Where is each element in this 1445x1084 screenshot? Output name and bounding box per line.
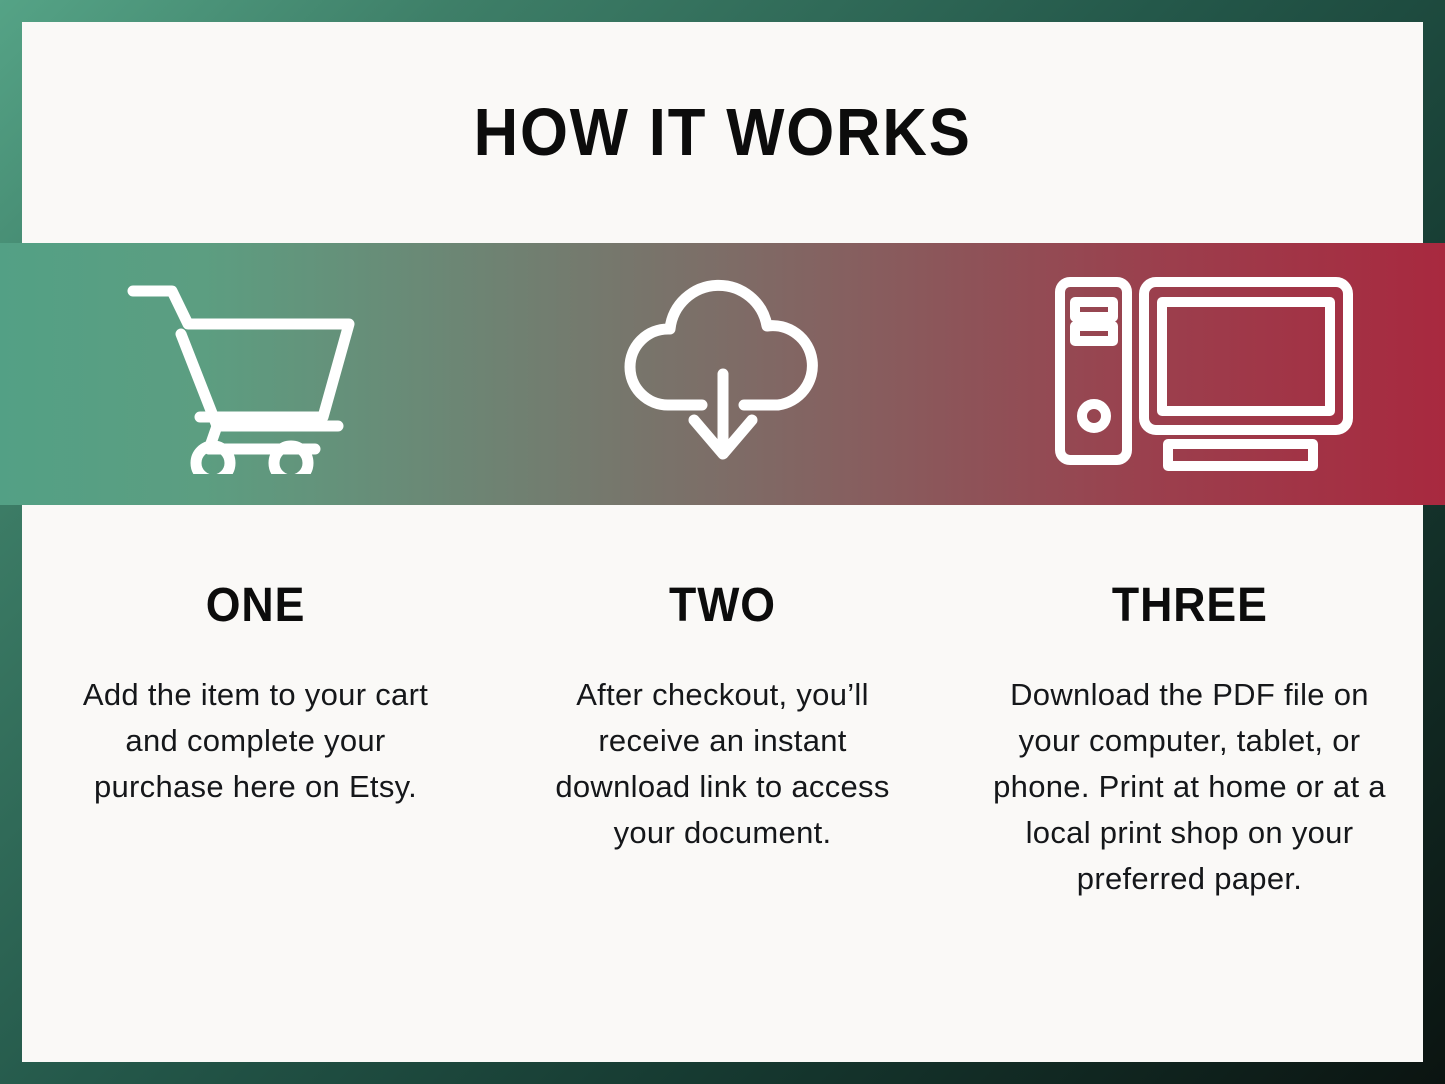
step-three-body: Download the PDF file on your computer, … xyxy=(991,672,1389,901)
steps-columns: ONE Add the item to your cart and comple… xyxy=(22,582,1423,901)
icon-slot-two xyxy=(482,274,964,474)
page-title-block: HOW IT WORKS xyxy=(22,22,1423,243)
cloud-download-icon xyxy=(618,274,828,474)
step-one-body: Add the item to your cart and complete y… xyxy=(58,672,453,810)
icon-slot-one xyxy=(0,274,482,474)
shopping-cart-icon xyxy=(125,274,357,474)
step-two-heading: TWO xyxy=(669,582,776,630)
poster-card: HOW IT WORKS ONE Add the item to your ca… xyxy=(22,22,1423,1062)
step-three-heading: THREE xyxy=(1112,582,1268,630)
page-title: HOW IT WORKS xyxy=(473,99,971,166)
step-one-heading: ONE xyxy=(206,582,306,630)
step-two-body: After checkout, you’ll receive an instan… xyxy=(538,672,908,856)
desktop-computer-icon xyxy=(1054,276,1354,472)
icon-slot-three xyxy=(963,276,1445,472)
icon-gradient-band xyxy=(0,243,1445,505)
how-it-works-poster: HOW IT WORKS ONE Add the item to your ca… xyxy=(0,0,1445,1084)
step-three: THREE Download the PDF file on your comp… xyxy=(956,582,1423,901)
step-one: ONE Add the item to your cart and comple… xyxy=(22,582,489,810)
step-two: TWO After checkout, you’ll receive an in… xyxy=(489,582,956,856)
